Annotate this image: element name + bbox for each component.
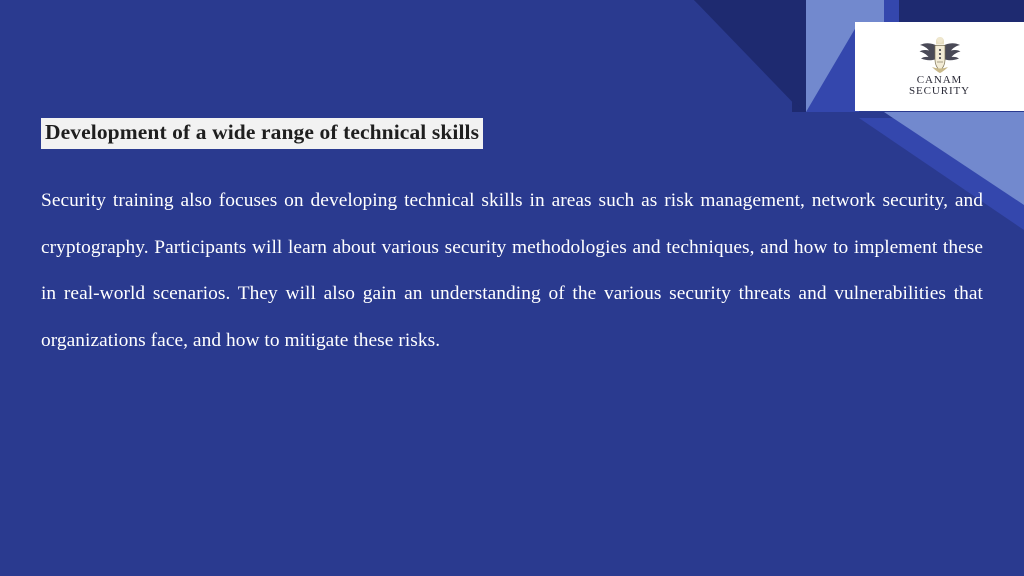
slide-title: Development of a wide range of technical… [41,118,483,149]
slide-body-text: Security training also focuses on develo… [41,178,983,364]
deco-navy-strip [792,0,806,112]
slide-title-container: Development of a wide range of technical… [41,118,483,149]
presentation-slide: CANAM SECURITY Development of a wide ran… [0,0,1024,576]
deco-periwinkle-top [806,0,884,22]
logo-wordmark-line2: SECURITY [909,86,970,97]
deco-mid-blue-triangle [806,22,859,112]
deco-dark-navy-wedge [694,0,809,108]
slide-body-container: Security training also focuses on develo… [41,178,983,364]
company-logo: CANAM SECURITY [855,22,1024,111]
eagle-shield-crest-icon [917,36,963,74]
logo-wordmark: CANAM SECURITY [909,75,970,97]
deco-periwinkle-block [806,22,859,112]
